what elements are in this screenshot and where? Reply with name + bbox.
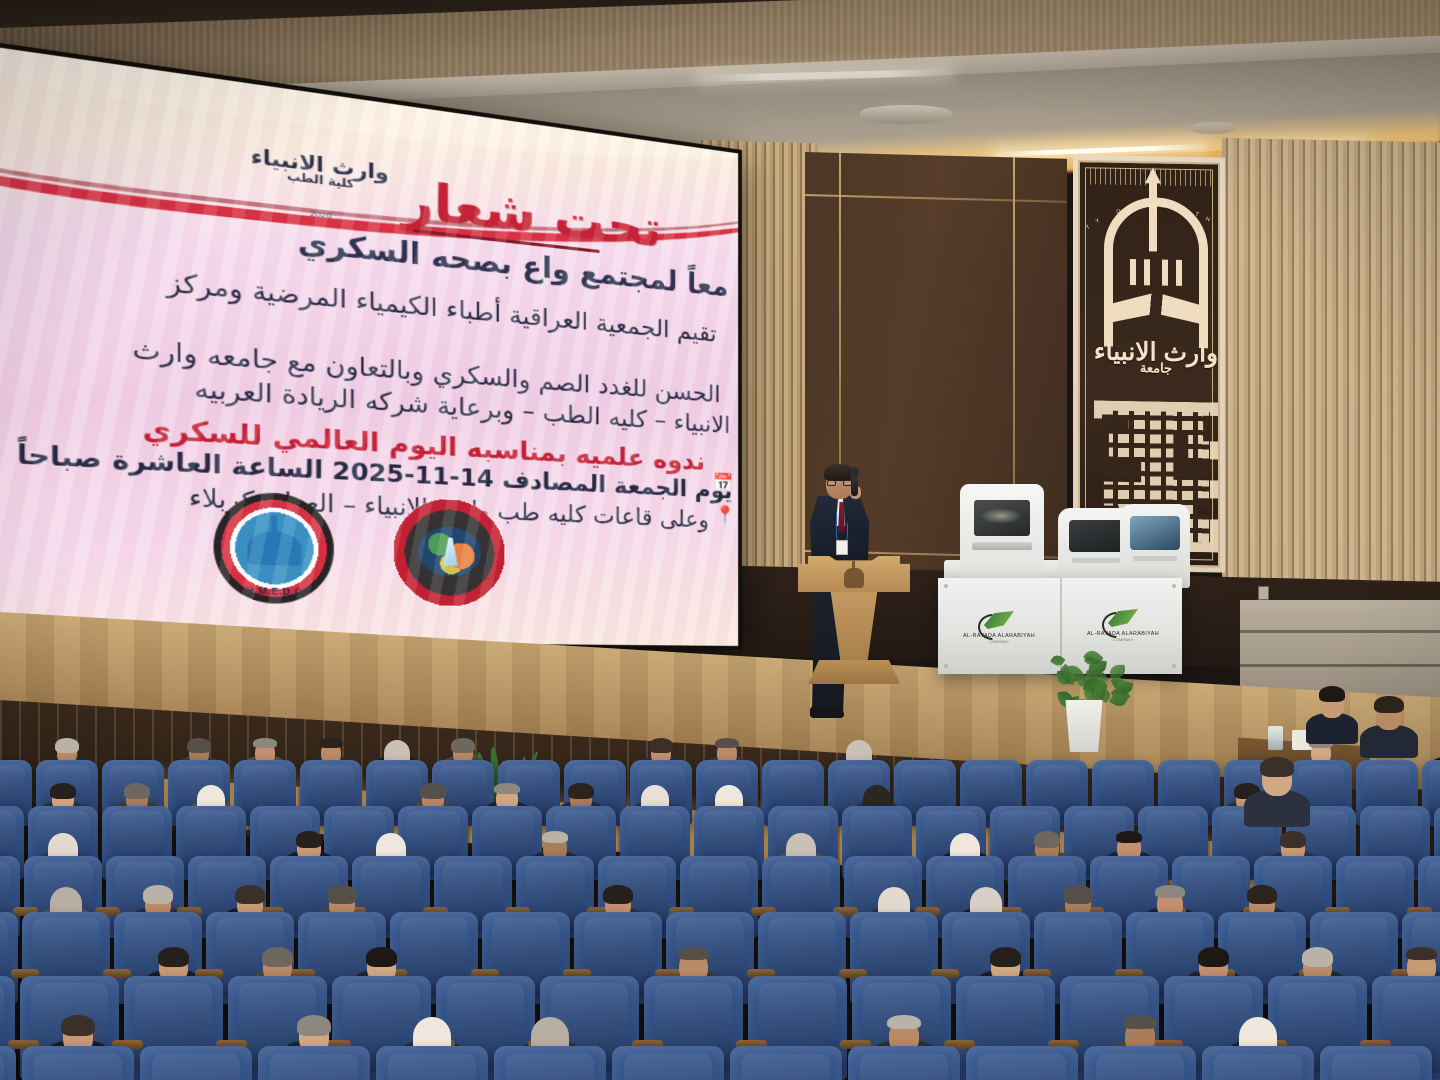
audience-member-head	[1262, 762, 1292, 796]
logo-hmedc-caption: H.M.E.D.C	[214, 584, 334, 598]
audience-member-hair	[297, 1015, 331, 1037]
plaque-arabic-name: وارث الانبياء جامعة	[1088, 340, 1220, 375]
audience-member-hair	[494, 783, 519, 794]
hvac-diffuser	[860, 105, 952, 124]
auditorium-seat[interactable]	[848, 1046, 960, 1080]
wooden-lectern	[800, 556, 908, 720]
audience-member-hair	[124, 783, 149, 799]
audience-member-hair	[1247, 885, 1276, 904]
audience-member-hair	[296, 831, 323, 848]
water-glass	[1268, 726, 1283, 750]
audience-member-hair	[1260, 757, 1294, 777]
analyzer-unit-b	[1120, 504, 1190, 588]
audience-member-hair	[61, 1015, 95, 1037]
plaque-arc-text: UNIVERSITY OF WARITH AL-ANBIYA	[1098, 202, 1214, 320]
auditorium-seat[interactable]	[376, 1046, 488, 1080]
audience-member-head	[1320, 690, 1344, 718]
location-pin-icon: 📍	[716, 505, 737, 526]
glasses-icon	[827, 480, 852, 486]
auditorium-seat[interactable]	[22, 1046, 134, 1080]
cabinet-brand-logo: AL-RAYADA ALARABIYAH COMPANY	[1080, 608, 1166, 642]
audience-member-hair	[420, 783, 445, 799]
audience-member-hair	[715, 738, 738, 748]
audience-member-hair	[603, 885, 632, 904]
analyzer-tower	[960, 484, 1044, 584]
auditorium-seat[interactable]	[730, 1046, 842, 1080]
audience-member-hair	[1319, 686, 1346, 702]
auditorium-seat[interactable]	[494, 1046, 606, 1080]
audience-member-hair	[319, 738, 342, 748]
audience-member-hair	[158, 947, 189, 967]
lectern-emblem-icon	[844, 568, 864, 588]
audience-member-hair	[143, 885, 172, 904]
audience-member-hair	[1198, 947, 1229, 967]
audience-member-hair	[887, 1015, 921, 1030]
wood-slat-wall-right	[1222, 138, 1440, 633]
audience-member-hair	[649, 738, 672, 753]
audience-member-hair	[1155, 885, 1184, 898]
audience-member-hair	[1302, 947, 1333, 967]
audience-member-hair	[678, 947, 709, 961]
cabinet-brand-logo: AL-RAYADA ALARABIYAH COMPANY	[956, 610, 1042, 644]
audience-member-hair	[50, 783, 75, 799]
auditorium-seat[interactable]	[0, 1046, 16, 1080]
auditorium-seat[interactable]	[1320, 1046, 1432, 1080]
audience-member-hair	[253, 738, 276, 748]
wall-socket	[1258, 586, 1269, 600]
audience-member-hair	[990, 947, 1021, 967]
analyzer-touchscreen	[1130, 516, 1180, 550]
microphone-icon	[851, 472, 858, 496]
audience-member-hair	[1034, 831, 1061, 848]
audience-member-hair	[1063, 885, 1092, 904]
analyzer-display	[974, 500, 1030, 536]
speaker-lanyard	[836, 512, 848, 542]
auditorium-seat[interactable]	[612, 1046, 724, 1080]
auditorium-seat[interactable]	[1202, 1046, 1314, 1080]
audience-member-hair	[262, 947, 293, 967]
analyzer-touchscreen	[1069, 520, 1123, 552]
audience-member-hair	[187, 738, 210, 753]
leaf-icon	[1106, 608, 1140, 630]
auditorium-seat[interactable]	[140, 1046, 252, 1080]
mosque-dome-icon	[247, 530, 301, 566]
auditorium-seat[interactable]	[258, 1046, 370, 1080]
leaf-icon	[982, 610, 1016, 632]
audience-member-hair	[1280, 831, 1307, 848]
audience-member-hair	[1116, 831, 1143, 843]
auditorium-seat[interactable]	[966, 1046, 1078, 1080]
audience-member-hair	[55, 738, 78, 753]
speaker-badge	[836, 540, 848, 555]
audience-member-hair	[542, 831, 569, 843]
audience-member-hair	[1374, 696, 1403, 713]
audience-member-hair	[327, 885, 356, 904]
audience-member-hair	[366, 947, 397, 967]
audience-member-hair	[451, 738, 474, 753]
audience-member-head	[1376, 700, 1402, 730]
auditorium-seat[interactable]	[1084, 1046, 1196, 1080]
audience-member-hair	[235, 885, 264, 904]
audience-member-hair	[1406, 947, 1437, 961]
hvac-diffuser	[1190, 122, 1236, 134]
audience-member-hair	[1123, 1015, 1157, 1030]
auditorium-photo: UNIVERSITY OF WARITH AL-ANBIYA وارث الان…	[0, 0, 1440, 1080]
analyzer-slot	[972, 542, 1032, 550]
audience-member-hair	[568, 783, 593, 799]
